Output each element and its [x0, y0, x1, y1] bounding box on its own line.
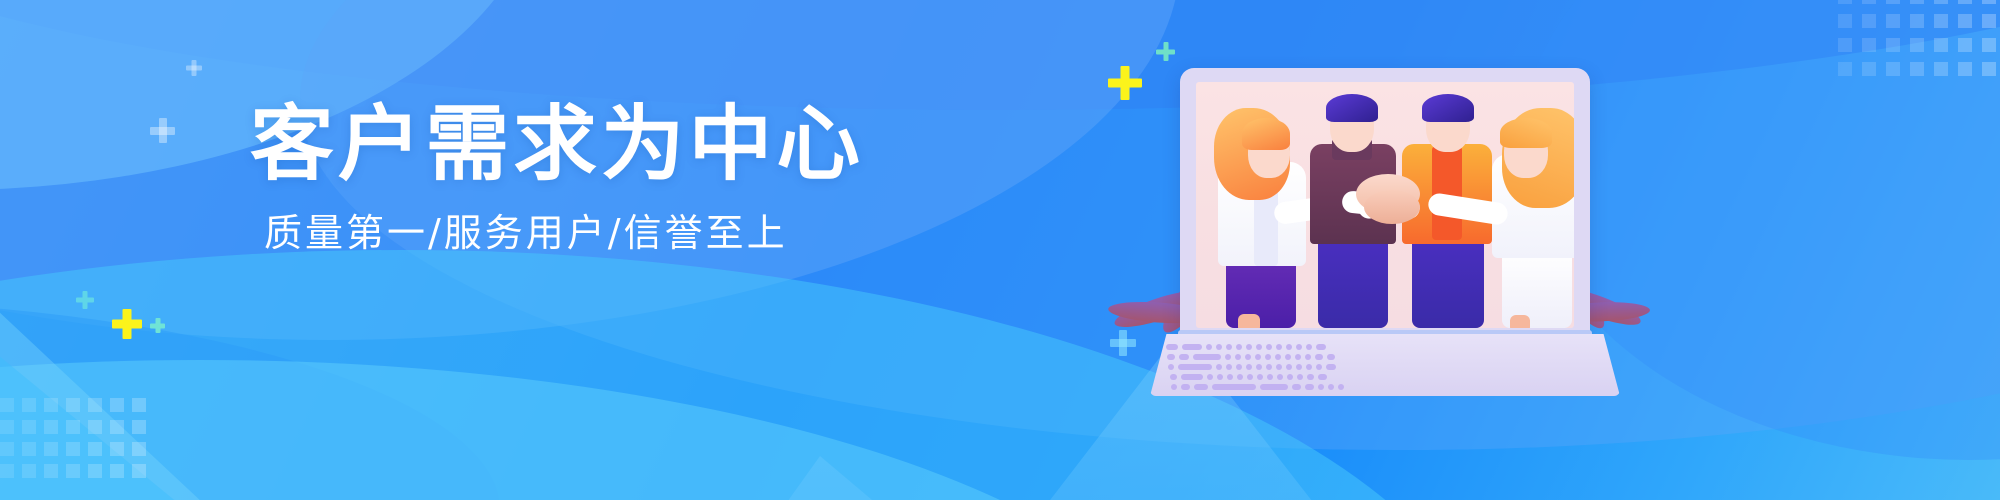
keyboard-key — [1316, 344, 1326, 350]
dot-square — [66, 442, 80, 456]
plus-white-mid-left-icon — [150, 118, 175, 143]
dot-square — [0, 464, 14, 478]
keyboard-key — [1328, 384, 1334, 390]
keyboard-key — [1292, 384, 1301, 390]
keyboard-key — [1267, 374, 1273, 380]
dot-square — [1982, 14, 1996, 28]
stacked-hands-icon — [1364, 190, 1420, 224]
keyboard-key — [1246, 364, 1252, 370]
dot-square — [0, 442, 14, 456]
person-legs — [1412, 236, 1484, 328]
keyboard-key — [1167, 354, 1175, 360]
dot-square — [0, 420, 14, 434]
dot-square — [1886, 14, 1900, 28]
dot-square — [66, 420, 80, 434]
keyboard-key — [1255, 354, 1261, 360]
keyboard-key — [1257, 374, 1263, 380]
plus-cyan-small-bottom-left-icon — [76, 291, 94, 309]
keyboard-key — [1236, 364, 1242, 370]
keyboard-key — [1256, 364, 1262, 370]
keyboard-key — [1287, 374, 1293, 380]
keyboard-key — [1296, 344, 1302, 350]
dot-square — [132, 398, 146, 412]
person-figure — [1484, 108, 1574, 328]
person-hair — [1422, 94, 1474, 122]
dot-square — [44, 464, 58, 478]
dot-square — [1838, 0, 1852, 4]
keyboard-key — [1245, 354, 1251, 360]
keyboard-key — [1170, 374, 1177, 380]
dot-square — [1934, 0, 1948, 4]
keyboard-key — [1179, 354, 1189, 360]
person-hair-front — [1500, 118, 1552, 148]
keyboard-key — [1225, 354, 1231, 360]
person-hair — [1326, 94, 1378, 122]
dot-square — [110, 398, 124, 412]
keyboard-key — [1276, 344, 1282, 350]
dot-square — [1982, 0, 1996, 4]
keyboard-key — [1276, 364, 1282, 370]
laptop-lid — [1180, 68, 1590, 338]
dot-square — [1958, 0, 1972, 4]
keyboard-key — [1266, 364, 1272, 370]
keyboard-key — [1256, 344, 1262, 350]
keyboard-key — [1182, 344, 1202, 350]
keyboard-key — [1316, 364, 1322, 370]
copy-block: 客户需求为中心 质量第一/服务用户/信誉至上 — [250, 104, 910, 252]
keyboard-key — [1246, 344, 1252, 350]
keyboard-key — [1193, 354, 1221, 360]
dot-square — [1982, 38, 1996, 52]
dot-grid-top-right — [1838, 0, 2000, 86]
dot-square — [66, 398, 80, 412]
dot-square — [1862, 62, 1876, 76]
keyboard-key — [1171, 384, 1177, 390]
person-foot — [1238, 314, 1260, 328]
dot-square — [1958, 38, 1972, 52]
plus-cyan-small-top-icon — [1156, 42, 1175, 61]
keyboard-key — [1260, 384, 1288, 390]
keyboard-key — [1217, 374, 1223, 380]
dot-square — [22, 442, 36, 456]
dot-square — [22, 464, 36, 478]
keyboard-key — [1315, 354, 1323, 360]
dot-square — [22, 398, 36, 412]
keyboard-key — [1181, 374, 1203, 380]
keyboard-key — [1318, 384, 1324, 390]
keyboard-key — [1305, 354, 1311, 360]
keyboard-key — [1296, 364, 1302, 370]
dot-square — [1886, 38, 1900, 52]
keyboard-key — [1226, 364, 1232, 370]
keyboard-key — [1286, 364, 1292, 370]
keyboard-key — [1295, 354, 1301, 360]
background-chevron-inner — [0, 250, 500, 500]
plus-yellow-large-top-icon — [1108, 66, 1142, 100]
background-wave-deep-top — [0, 0, 2000, 110]
person-foot — [1510, 315, 1530, 328]
keyboard-key — [1216, 344, 1222, 350]
dot-square — [0, 398, 14, 412]
keyboard-key — [1237, 374, 1243, 380]
dot-square — [1934, 62, 1948, 76]
keyboard-key — [1266, 344, 1272, 350]
background-wave-navy-lower-left — [0, 300, 500, 500]
keyboard-key — [1206, 344, 1212, 350]
dot-square — [88, 442, 102, 456]
dot-square — [1958, 14, 1972, 28]
keyboard-key — [1194, 384, 1208, 390]
dot-square — [1982, 62, 1996, 76]
dot-square — [1886, 62, 1900, 76]
plus-white-upper-left-icon — [186, 60, 202, 76]
dot-square — [1862, 0, 1876, 4]
dot-square — [110, 420, 124, 434]
keyboard-key — [1181, 384, 1190, 390]
keyboard-key — [1306, 364, 1312, 370]
dot-square — [1910, 0, 1924, 4]
dot-square — [66, 464, 80, 478]
dot-square — [1862, 14, 1876, 28]
dot-square — [1910, 14, 1924, 28]
keyboard-key — [1338, 384, 1344, 390]
headline-text: 客户需求为中心 — [250, 104, 923, 186]
dot-square — [1910, 38, 1924, 52]
person-hair-front — [1242, 118, 1290, 150]
dot-square — [88, 420, 102, 434]
dot-square — [1910, 62, 1924, 76]
keyboard-key — [1212, 384, 1256, 390]
dot-square — [1862, 38, 1876, 52]
dot-square — [1934, 38, 1948, 52]
keyboard-key — [1327, 354, 1335, 360]
keyboard-key — [1236, 344, 1242, 350]
keyboard-key — [1226, 344, 1232, 350]
keyboard-key — [1235, 354, 1241, 360]
dot-square — [44, 398, 58, 412]
keyboard-key — [1307, 374, 1314, 380]
dot-square — [110, 464, 124, 478]
keyboard-key — [1227, 374, 1233, 380]
dot-square — [110, 442, 124, 456]
person-legs — [1318, 236, 1388, 328]
dot-square — [1838, 14, 1852, 28]
keyboard-key — [1326, 364, 1336, 370]
dot-square — [44, 442, 58, 456]
dot-square — [1886, 0, 1900, 4]
keyboard-key — [1305, 384, 1314, 390]
dot-square — [132, 442, 146, 456]
keyboard-key — [1285, 354, 1291, 360]
dot-square — [1958, 62, 1972, 76]
dot-square — [132, 420, 146, 434]
keyboard-key — [1247, 374, 1253, 380]
plus-cyan-small-bottom-right-icon — [150, 318, 165, 333]
keyboard-key — [1277, 374, 1283, 380]
background-wave-cyan-bottom — [0, 360, 1200, 500]
laptop-keyboard-base — [1150, 334, 1620, 396]
keyboard-key — [1318, 374, 1327, 380]
dot-square — [22, 420, 36, 434]
dot-square — [132, 464, 146, 478]
keyboard-key — [1178, 364, 1212, 370]
keyboard-key — [1166, 344, 1178, 350]
laptop-screen — [1196, 82, 1574, 328]
keyboard-key — [1216, 364, 1222, 370]
dot-square — [1838, 38, 1852, 52]
promotional-banner: 客户需求为中心 质量第一/服务用户/信誉至上 — [0, 0, 2000, 500]
laptop-illustration — [1150, 68, 1620, 398]
dot-square — [44, 420, 58, 434]
person-figure — [1208, 114, 1316, 328]
dot-square — [1838, 62, 1852, 76]
subheadline-text: 质量第一/服务用户/信誉至上 — [264, 214, 910, 252]
dot-square — [88, 398, 102, 412]
plus-cyan-center-bottom-icon — [1110, 330, 1136, 356]
dot-square — [88, 464, 102, 478]
plus-yellow-large-bottom-icon — [112, 309, 142, 339]
keyboard-key — [1306, 344, 1312, 350]
keyboard-key — [1297, 374, 1303, 380]
keyboard-key — [1265, 354, 1271, 360]
dot-square — [1934, 14, 1948, 28]
keyboard-key — [1286, 344, 1292, 350]
keyboard-key — [1275, 354, 1281, 360]
keyboard-key — [1168, 364, 1174, 370]
keyboard-key — [1207, 374, 1213, 380]
dot-grid-bottom-left — [0, 398, 154, 486]
